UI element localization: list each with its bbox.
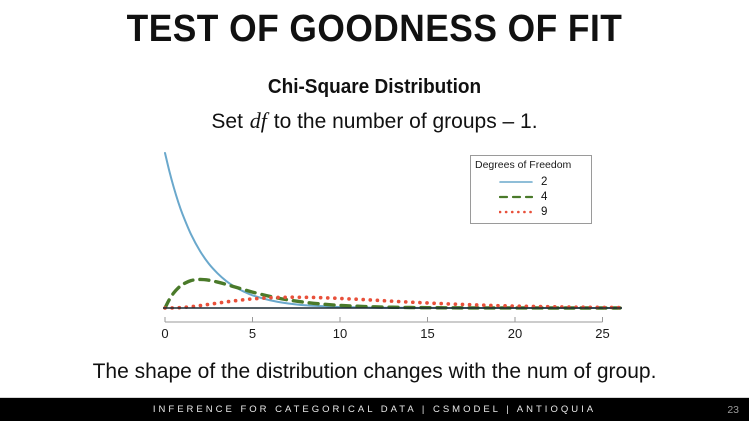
chi-square-chart: 0510152025 Degrees of Freedom 249 xyxy=(120,145,630,350)
legend-label-2: 2 xyxy=(541,176,547,188)
footer-breadcrumb: INFERENCE FOR CATEGORICAL DATA | CSMODEL… xyxy=(153,404,596,415)
legend-label-9: 9 xyxy=(541,206,547,218)
x-tick-label-5: 5 xyxy=(249,326,256,341)
x-tick-label-15: 15 xyxy=(420,326,434,341)
instruction-line: Set df to the number of groups – 1. xyxy=(0,108,749,134)
page-number: 23 xyxy=(727,404,739,416)
x-tick-label-10: 10 xyxy=(333,326,347,341)
x-tick-label-25: 25 xyxy=(595,326,609,341)
legend-entry-4: 4 xyxy=(471,189,591,204)
instruction-prefix: Set xyxy=(211,110,248,133)
legend-title: Degrees of Freedom xyxy=(471,158,591,174)
x-tick-label-20: 20 xyxy=(508,326,522,341)
chart-axis-group: 0510152025 xyxy=(161,308,622,341)
chart-legend: Degrees of Freedom 249 xyxy=(470,155,592,224)
slide-footer: INFERENCE FOR CATEGORICAL DATA | CSMODEL… xyxy=(0,398,749,421)
chart-subtitle: Chi-Square Distribution xyxy=(19,76,731,99)
legend-entry-2: 2 xyxy=(471,174,591,189)
instruction-suffix: to the number of groups – 1. xyxy=(268,110,538,133)
legend-swatch-9-icon xyxy=(499,206,533,218)
x-tick-label-0: 0 xyxy=(161,326,168,341)
legend-entry-9: 9 xyxy=(471,204,591,219)
legend-swatch-4-icon xyxy=(499,191,533,203)
page-title: TEST OF GOODNESS OF FIT xyxy=(26,8,723,51)
legend-swatch-2-icon xyxy=(499,176,533,188)
degrees-of-freedom-variable: df xyxy=(249,108,268,133)
legend-entries: 249 xyxy=(471,174,591,219)
slide-caption: The shape of the distribution changes wi… xyxy=(0,360,749,384)
legend-label-4: 4 xyxy=(541,191,547,203)
series-line-df-4 xyxy=(165,279,620,308)
